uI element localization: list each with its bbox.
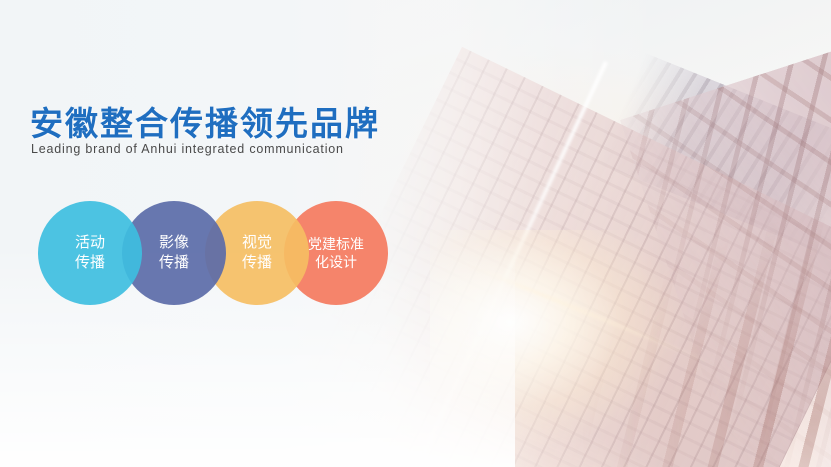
bubble-label-line1: 党建标准 [308, 235, 364, 253]
bubble-label-line1: 活动 [75, 233, 105, 253]
bubble-label-line2: 化设计 [315, 253, 357, 271]
bubble-label-line2: 传播 [159, 253, 189, 273]
slide-content: 安徽整合传播领先品牌 Leading brand of Anhui integr… [0, 0, 831, 467]
bubble-label-line1: 视觉 [242, 233, 272, 253]
service-bubble-huodong-chuanbo[interactable]: 活动 传播 [38, 201, 142, 305]
bubble-label-line1: 影像 [159, 233, 189, 253]
subhead-tagline: Leading brand of Anhui integrated commun… [31, 142, 344, 156]
bubble-label-line2: 传播 [242, 253, 272, 273]
service-bubble-group: 活动 传播 影像 传播 视觉 传播 党建标准 化设计 [0, 196, 420, 311]
headline-title: 安徽整合传播领先品牌 [30, 97, 380, 145]
presentation-slide: 安徽整合传播领先品牌 Leading brand of Anhui integr… [0, 0, 831, 467]
bubble-label-line2: 传播 [75, 253, 105, 273]
